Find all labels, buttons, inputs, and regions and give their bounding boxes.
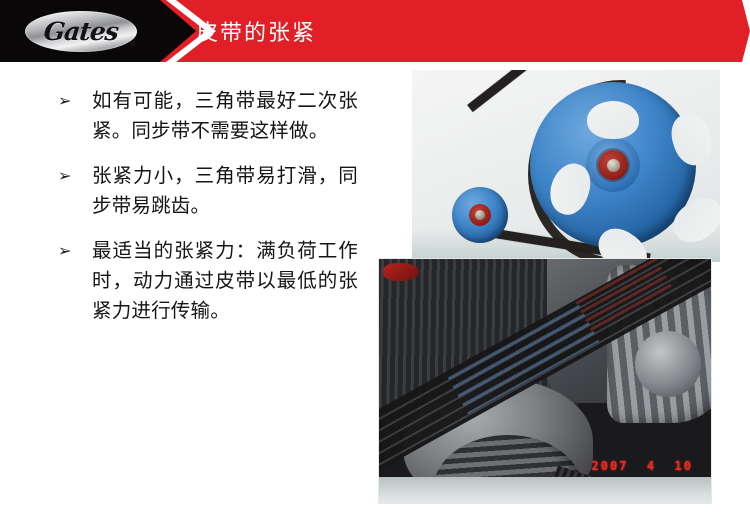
logo-wordmark: Gates (23, 11, 139, 52)
logo-registered-mark: ® (129, 40, 136, 48)
list-item-text: 如有可能，三角带最好二次张紧。同步带不需要这样做。 (92, 86, 358, 146)
arrow-bullet-icon: ➢ (58, 236, 92, 266)
pulley-web-opening (587, 101, 639, 139)
list-item: ➢ 如有可能，三角带最好二次张紧。同步带不需要这样做。 (58, 86, 358, 146)
arrow-bullet-icon: ➢ (58, 86, 92, 116)
red-cable (383, 263, 419, 281)
large-blue-pulley (530, 82, 696, 248)
pulley-hub-bushing (469, 204, 491, 226)
camera-date-stamp: 2007 4 10 (592, 459, 693, 473)
driven-sheave-hub (635, 331, 701, 397)
page-title: 皮带的张紧 (196, 0, 316, 62)
list-item: ➢ 张紧力小，三角带易打滑，同步带易跳齿。 (58, 161, 358, 221)
pulley-drive-photo (412, 70, 720, 262)
small-blue-pulley (452, 187, 508, 243)
list-item: ➢ 最适当的张紧力：满负荷工作时，动力通过皮带以最低的张紧力进行传输。 (58, 236, 358, 326)
pulley-web-opening (544, 158, 596, 219)
pulley-hub-bushing (598, 150, 628, 180)
arrow-bullet-icon: ➢ (58, 161, 92, 191)
motor-drive-photo: 2007 4 10 (378, 258, 712, 504)
header-banner: Gates ® 皮带的张紧 (0, 0, 750, 63)
bullet-list: ➢ 如有可能，三角带最好二次张紧。同步带不需要这样做。 ➢ 张紧力小，三角带易打… (58, 86, 358, 341)
photo-floor-strip (379, 477, 711, 503)
pulley-web-opening (666, 109, 718, 170)
list-item-text: 张紧力小，三角带易打滑，同步带易跳齿。 (92, 161, 358, 221)
gates-logo: Gates ® (25, 11, 137, 52)
list-item-text: 最适当的张紧力：满负荷工作时，动力通过皮带以最低的张紧力进行传输。 (92, 236, 358, 326)
